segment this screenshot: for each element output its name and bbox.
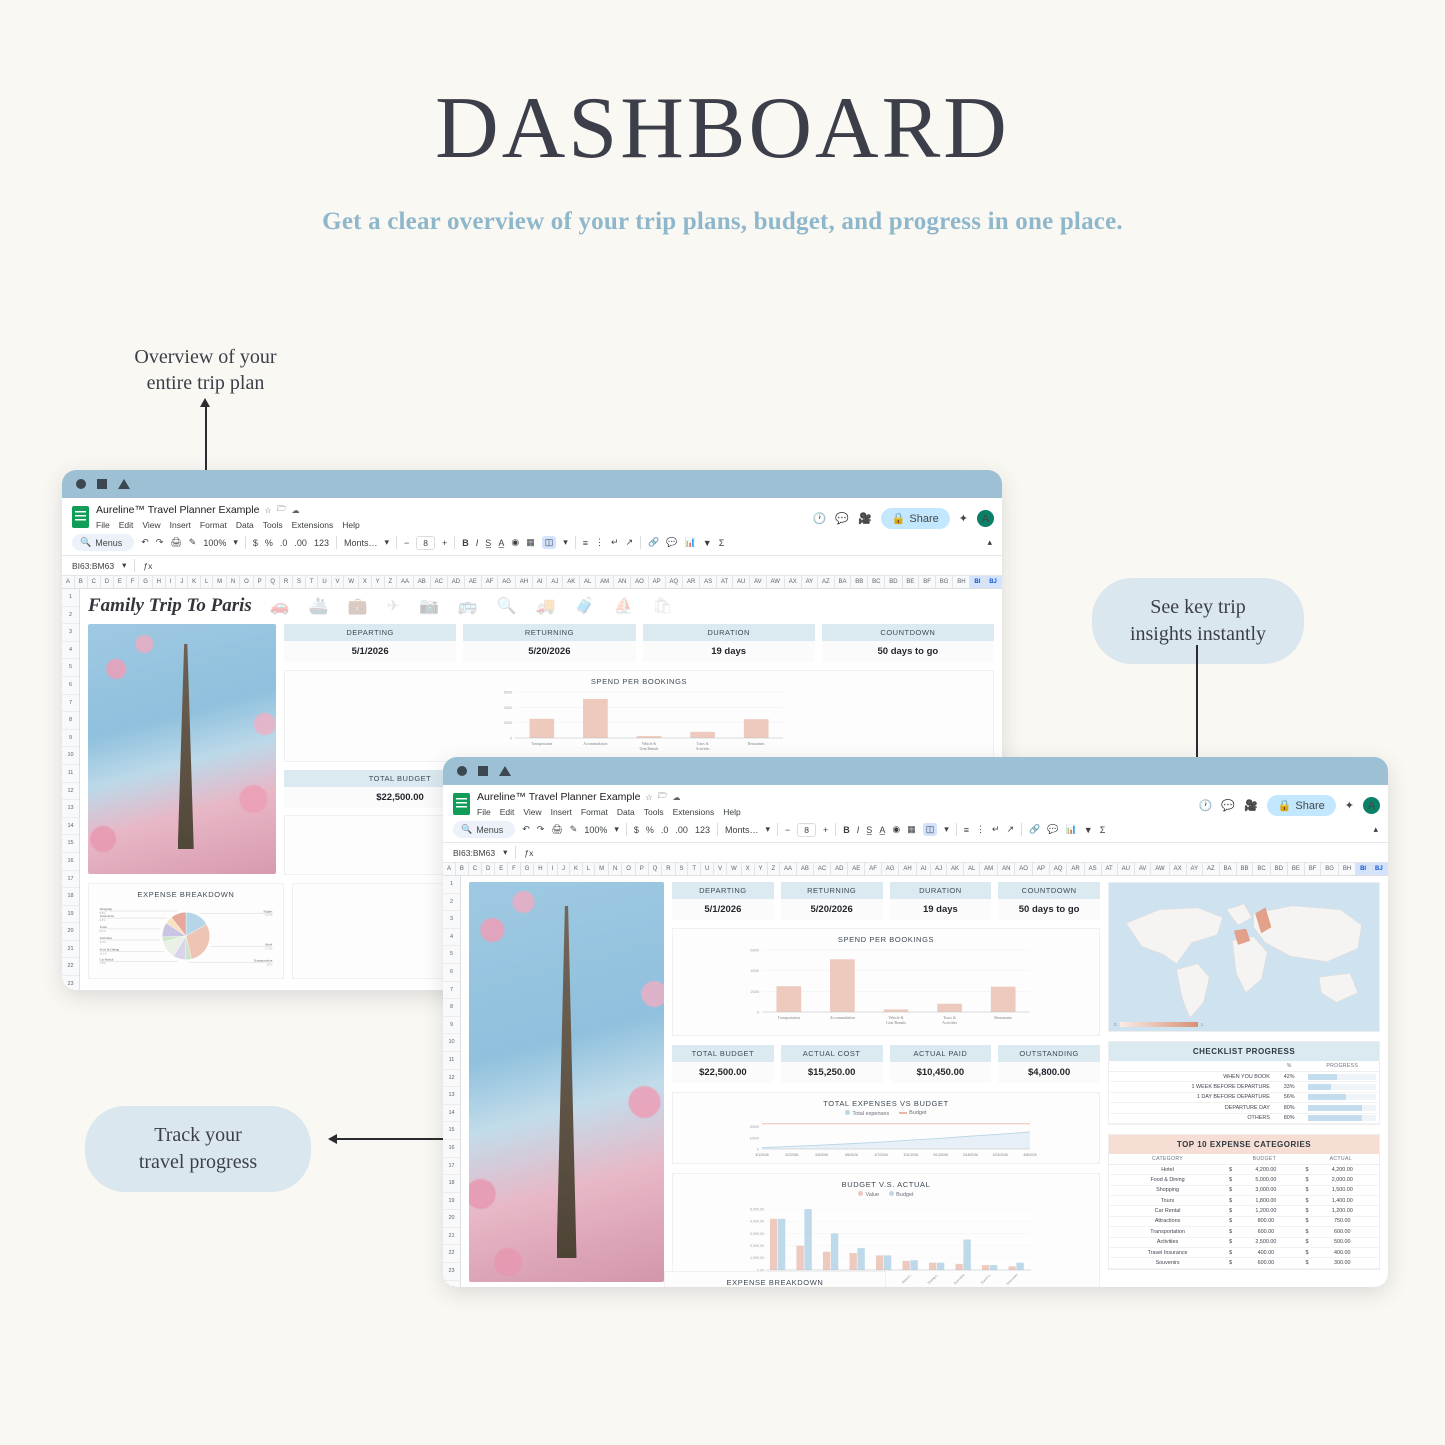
text-rotation-icon[interactable]: ↗ xyxy=(626,537,634,548)
move-folder-icon[interactable]: 🗁 xyxy=(658,790,668,804)
column-header-G[interactable]: G xyxy=(521,863,535,875)
row-header[interactable]: 16 xyxy=(443,1140,460,1158)
column-header-AR[interactable]: AR xyxy=(1067,863,1084,875)
row-header[interactable]: 11 xyxy=(62,765,79,783)
row-header[interactable]: 21 xyxy=(443,1228,460,1246)
column-header-X[interactable]: X xyxy=(359,576,372,588)
formula-bar-front[interactable]: BI63:BM63 ▾ ƒx xyxy=(443,843,1388,863)
window-minimize-icon[interactable] xyxy=(97,479,107,489)
cloud-saved-icon[interactable]: ☁ xyxy=(673,793,681,802)
insert-chart-icon[interactable]: 📊 xyxy=(1066,824,1077,835)
currency-format-button[interactable]: $ xyxy=(253,538,258,548)
column-headers-front[interactable]: ABCDEFGHIJKLMNOPQRSTUVWXYZAAABACADAEAFAG… xyxy=(443,863,1388,876)
column-header-AO[interactable]: AO xyxy=(1015,863,1033,875)
menus-search-button[interactable]: 🔍 Menus xyxy=(453,821,515,838)
vertical-align-icon[interactable]: ⋮ xyxy=(595,537,604,548)
column-header-BI[interactable]: BI xyxy=(970,576,985,588)
row-header[interactable]: 13 xyxy=(443,1087,460,1105)
menu-tools[interactable]: Tools xyxy=(263,520,283,530)
row-header[interactable]: 18 xyxy=(443,1175,460,1193)
text-color-button[interactable]: A̲ xyxy=(879,825,885,835)
column-header-AM[interactable]: AM xyxy=(596,576,614,588)
column-header-I[interactable]: I xyxy=(166,576,176,588)
menu-tools[interactable]: Tools xyxy=(644,807,664,817)
bold-button[interactable]: B xyxy=(462,538,469,548)
column-header-T[interactable]: T xyxy=(306,576,318,588)
column-header-AL[interactable]: AL xyxy=(580,576,596,588)
increase-font-size-button[interactable]: + xyxy=(442,538,447,548)
paint-format-icon[interactable]: ✎ xyxy=(189,537,197,548)
text-wrap-icon[interactable]: ↵ xyxy=(992,824,1000,835)
document-title[interactable]: Aureline™ Travel Planner Example xyxy=(96,504,259,516)
menu-file[interactable]: File xyxy=(477,807,491,817)
zoom-chevron-down-icon[interactable]: ▾ xyxy=(614,824,619,835)
header-actions-front[interactable]: 🕐 💬 🎥 🔒 Share ✦ A xyxy=(1199,790,1380,816)
name-box-chevron-down-icon[interactable]: ▾ xyxy=(122,560,126,571)
fill-color-icon[interactable]: ◉ xyxy=(892,824,900,835)
column-header-J[interactable]: J xyxy=(558,863,570,875)
window-titlebar-front[interactable] xyxy=(443,757,1388,785)
collapse-toolbar-chevron-up-icon[interactable]: ▴ xyxy=(1373,824,1378,835)
row-header[interactable]: 8 xyxy=(62,712,79,730)
column-header-C[interactable]: C xyxy=(88,576,101,588)
increase-decimal-button[interactable]: .00 xyxy=(294,538,307,548)
column-header-BB[interactable]: BB xyxy=(851,576,868,588)
window-close-icon[interactable] xyxy=(76,479,86,489)
percent-format-button[interactable]: % xyxy=(265,538,273,548)
comment-icon[interactable]: 💬 xyxy=(1221,799,1235,812)
row-header[interactable]: 4 xyxy=(443,929,460,947)
row-header[interactable]: 21 xyxy=(62,941,79,959)
row-header[interactable]: 23 xyxy=(62,976,79,990)
column-header-BE[interactable]: BE xyxy=(903,576,920,588)
row-header[interactable]: 19 xyxy=(62,906,79,924)
column-header-AE[interactable]: AE xyxy=(465,576,482,588)
menu-view[interactable]: View xyxy=(142,520,160,530)
window-titlebar[interactable] xyxy=(62,470,1002,498)
column-header-AJ[interactable]: AJ xyxy=(547,576,563,588)
text-wrap-icon[interactable]: ↵ xyxy=(611,537,619,548)
column-header-AH[interactable]: AH xyxy=(899,863,916,875)
column-header-AF[interactable]: AF xyxy=(865,863,882,875)
column-header-BI[interactable]: BI xyxy=(1356,863,1371,875)
column-header-AS[interactable]: AS xyxy=(1085,863,1102,875)
row-header[interactable]: 9 xyxy=(62,730,79,748)
window-close-icon[interactable] xyxy=(457,766,467,776)
text-rotation-icon[interactable]: ↗ xyxy=(1007,824,1015,835)
bold-button[interactable]: B xyxy=(843,825,850,835)
column-header-H[interactable]: H xyxy=(153,576,166,588)
column-header-BF[interactable]: BF xyxy=(1305,863,1322,875)
insert-link-icon[interactable]: 🔗 xyxy=(1029,824,1040,835)
column-header-P[interactable]: P xyxy=(254,576,267,588)
menu-format[interactable]: Format xyxy=(581,807,608,817)
insert-link-icon[interactable]: 🔗 xyxy=(648,537,659,548)
column-header-AW[interactable]: AW xyxy=(767,576,785,588)
column-header-AU[interactable]: AU xyxy=(1118,863,1135,875)
name-box[interactable]: BI63:BM63 xyxy=(72,561,114,571)
version-history-icon[interactable]: 🕐 xyxy=(813,512,827,525)
column-header-AY[interactable]: AY xyxy=(1187,863,1203,875)
row-header[interactable]: 3 xyxy=(443,911,460,929)
row-header[interactable]: 19 xyxy=(443,1193,460,1211)
more-formats-button[interactable]: 123 xyxy=(695,825,710,835)
column-header-BH[interactable]: BH xyxy=(953,576,970,588)
column-header-BB[interactable]: BB xyxy=(1237,863,1254,875)
comment-icon[interactable]: 💬 xyxy=(835,512,849,525)
print-icon[interactable]: 🖨 xyxy=(551,824,562,835)
row-header[interactable]: 9 xyxy=(443,1017,460,1035)
name-box[interactable]: BI63:BM63 xyxy=(453,848,495,858)
menu-extensions[interactable]: Extensions xyxy=(673,807,715,817)
row-header[interactable]: 20 xyxy=(62,923,79,941)
column-header-AV[interactable]: AV xyxy=(1135,863,1151,875)
row-header[interactable]: 16 xyxy=(62,853,79,871)
star-icon[interactable]: ☆ xyxy=(645,793,652,802)
column-header-Z[interactable]: Z xyxy=(385,576,397,588)
meet-icon[interactable]: 🎥 xyxy=(1244,799,1258,812)
print-icon[interactable]: 🖨 xyxy=(170,537,181,548)
column-header-AH[interactable]: AH xyxy=(516,576,533,588)
row-header[interactable]: 13 xyxy=(62,800,79,818)
horizontal-align-icon[interactable]: ≡ xyxy=(964,825,969,835)
column-header-AJ[interactable]: AJ xyxy=(931,863,947,875)
column-header-S[interactable]: S xyxy=(676,863,689,875)
font-family-select[interactable]: Monts… xyxy=(344,538,378,548)
decrease-decimal-button[interactable]: .0 xyxy=(280,538,288,548)
column-header-AN[interactable]: AN xyxy=(614,576,631,588)
menubar[interactable]: File Edit View Insert Format Data Tools … xyxy=(96,520,360,530)
column-header-AQ[interactable]: AQ xyxy=(666,576,683,588)
column-header-R[interactable]: R xyxy=(280,576,293,588)
column-header-BE[interactable]: BE xyxy=(1288,863,1305,875)
column-header-AE[interactable]: AE xyxy=(848,863,865,875)
column-header-B[interactable]: B xyxy=(75,576,88,588)
column-header-AS[interactable]: AS xyxy=(700,576,717,588)
window-minimize-icon[interactable] xyxy=(478,766,488,776)
row-header[interactable]: 10 xyxy=(62,747,79,765)
column-header-W[interactable]: W xyxy=(727,863,742,875)
column-header-BD[interactable]: BD xyxy=(1271,863,1288,875)
row-headers-front[interactable]: 1234567891011121314151617181920212223242… xyxy=(443,876,461,1287)
column-header-AQ[interactable]: AQ xyxy=(1050,863,1068,875)
redo-icon[interactable]: ↷ xyxy=(537,824,545,835)
column-header-BA[interactable]: BA xyxy=(1220,863,1237,875)
column-header-AX[interactable]: AX xyxy=(785,576,802,588)
column-header-O[interactable]: O xyxy=(622,863,636,875)
row-header[interactable]: 12 xyxy=(443,1070,460,1088)
window-maximize-icon[interactable] xyxy=(118,479,130,489)
row-header[interactable]: 17 xyxy=(443,1158,460,1176)
row-header[interactable]: 3 xyxy=(62,624,79,642)
insert-comment-icon[interactable]: 💬 xyxy=(666,537,677,548)
column-header-AY[interactable]: AY xyxy=(802,576,818,588)
column-header-AT[interactable]: AT xyxy=(1102,863,1118,875)
column-header-AU[interactable]: AU xyxy=(733,576,750,588)
merge-cells-icon[interactable]: ◫ xyxy=(542,536,557,549)
percent-format-button[interactable]: % xyxy=(646,825,654,835)
row-header[interactable]: 6 xyxy=(443,964,460,982)
header-actions[interactable]: 🕐 💬 🎥 🔒 Share ✦ A xyxy=(813,503,994,529)
column-header-AR[interactable]: AR xyxy=(683,576,700,588)
decrease-font-size-button[interactable]: − xyxy=(404,538,409,548)
font-size-input[interactable]: 8 xyxy=(416,536,435,550)
column-header-AG[interactable]: AG xyxy=(882,863,900,875)
column-header-K[interactable]: K xyxy=(570,863,583,875)
column-header-AC[interactable]: AC xyxy=(431,576,448,588)
column-header-N[interactable]: N xyxy=(609,863,622,875)
column-header-AI[interactable]: AI xyxy=(917,863,932,875)
column-header-R[interactable]: R xyxy=(662,863,675,875)
document-title[interactable]: Aureline™ Travel Planner Example xyxy=(477,791,640,803)
font-family-select[interactable]: Monts… xyxy=(725,825,759,835)
column-header-W[interactable]: W xyxy=(344,576,358,588)
column-header-AN[interactable]: AN xyxy=(998,863,1015,875)
row-header[interactable]: 7 xyxy=(62,695,79,713)
row-headers-back[interactable]: 123456789101112131415161718192021222324 xyxy=(62,589,80,990)
undo-icon[interactable]: ↶ xyxy=(522,824,530,835)
column-header-Q[interactable]: Q xyxy=(649,863,663,875)
share-button[interactable]: 🔒 Share xyxy=(1267,795,1336,816)
increase-decimal-button[interactable]: .00 xyxy=(675,825,688,835)
column-header-AP[interactable]: AP xyxy=(1033,863,1050,875)
column-header-AD[interactable]: AD xyxy=(448,576,465,588)
column-header-AA[interactable]: AA xyxy=(397,576,414,588)
row-header[interactable]: 1 xyxy=(62,589,79,607)
row-header[interactable]: 8 xyxy=(443,999,460,1017)
merge-cells-icon[interactable]: ◫ xyxy=(923,823,938,836)
column-header-O[interactable]: O xyxy=(240,576,253,588)
menu-help[interactable]: Help xyxy=(342,520,359,530)
share-button[interactable]: 🔒 Share xyxy=(881,508,950,529)
row-header[interactable]: 22 xyxy=(62,958,79,976)
row-header[interactable]: 7 xyxy=(443,982,460,1000)
name-box-chevron-down-icon[interactable]: ▾ xyxy=(503,847,507,858)
font-chevron-down-icon[interactable]: ▾ xyxy=(384,537,389,548)
column-header-BG[interactable]: BG xyxy=(936,576,953,588)
column-header-G[interactable]: G xyxy=(139,576,152,588)
column-header-J[interactable]: J xyxy=(176,576,188,588)
menu-data[interactable]: Data xyxy=(236,520,254,530)
column-header-T[interactable]: T xyxy=(688,863,701,875)
italic-button[interactable]: I xyxy=(857,825,860,835)
column-header-AW[interactable]: AW xyxy=(1151,863,1169,875)
fill-color-icon[interactable]: ◉ xyxy=(511,537,519,548)
menu-insert[interactable]: Insert xyxy=(551,807,572,817)
borders-icon[interactable]: ▦ xyxy=(526,537,535,548)
row-header[interactable]: 11 xyxy=(443,1052,460,1070)
merge-chevron-down-icon[interactable]: ▾ xyxy=(563,537,568,548)
menu-edit[interactable]: Edit xyxy=(500,807,515,817)
row-header[interactable]: 5 xyxy=(62,659,79,677)
column-header-AF[interactable]: AF xyxy=(482,576,498,588)
menus-search-button[interactable]: 🔍 Menus xyxy=(72,534,134,551)
column-header-AA[interactable]: AA xyxy=(780,863,797,875)
row-header[interactable]: 2 xyxy=(443,894,460,912)
window-maximize-icon[interactable] xyxy=(499,766,511,776)
column-header-AZ[interactable]: AZ xyxy=(818,576,834,588)
column-header-AP[interactable]: AP xyxy=(649,576,666,588)
row-header[interactable]: 18 xyxy=(62,888,79,906)
strikethrough-button[interactable]: S̲ xyxy=(485,538,491,548)
column-header-AK[interactable]: AK xyxy=(947,863,964,875)
column-header-AD[interactable]: AD xyxy=(831,863,848,875)
row-header[interactable]: 2 xyxy=(62,607,79,625)
toolbar[interactable]: 🔍 Menus ↶ ↷ 🖨 ✎ 100% ▾ $ % .0 .00 123 Mo… xyxy=(62,530,1002,556)
row-header[interactable]: 6 xyxy=(62,677,79,695)
zoom-level[interactable]: 100% xyxy=(584,825,607,835)
functions-icon[interactable]: Σ xyxy=(719,538,725,548)
menu-view[interactable]: View xyxy=(523,807,541,817)
menu-data[interactable]: Data xyxy=(617,807,635,817)
spreadsheet-window-front[interactable]: Aureline™ Travel Planner Example ☆ 🗁 ☁ F… xyxy=(443,757,1388,1287)
column-header-BJ[interactable]: BJ xyxy=(1371,863,1388,875)
row-header[interactable]: 15 xyxy=(62,835,79,853)
filter-icon[interactable]: ▼ xyxy=(703,538,712,548)
column-header-D[interactable]: D xyxy=(482,863,495,875)
menu-help[interactable]: Help xyxy=(723,807,740,817)
column-header-AM[interactable]: AM xyxy=(980,863,998,875)
column-header-M[interactable]: M xyxy=(213,576,227,588)
row-header[interactable]: 15 xyxy=(443,1122,460,1140)
column-header-BF[interactable]: BF xyxy=(919,576,935,588)
functions-icon[interactable]: Σ xyxy=(1100,825,1106,835)
menu-extensions[interactable]: Extensions xyxy=(292,520,334,530)
row-header[interactable]: 12 xyxy=(62,783,79,801)
row-header[interactable]: 5 xyxy=(443,946,460,964)
horizontal-align-icon[interactable]: ≡ xyxy=(583,538,588,548)
menu-edit[interactable]: Edit xyxy=(119,520,134,530)
column-header-BG[interactable]: BG xyxy=(1321,863,1339,875)
column-header-AV[interactable]: AV xyxy=(750,576,766,588)
formula-bar[interactable]: BI63:BM63 ▾ ƒx xyxy=(62,556,1002,576)
row-header[interactable]: 23 xyxy=(443,1263,460,1281)
filter-icon[interactable]: ▼ xyxy=(1084,825,1093,835)
column-header-AC[interactable]: AC xyxy=(814,863,831,875)
decrease-decimal-button[interactable]: .0 xyxy=(661,825,669,835)
row-header[interactable]: 1 xyxy=(443,876,460,894)
column-header-F[interactable]: F xyxy=(127,576,139,588)
menu-insert[interactable]: Insert xyxy=(170,520,191,530)
gemini-icon[interactable]: ✦ xyxy=(1345,799,1354,812)
row-header[interactable]: 14 xyxy=(62,818,79,836)
column-header-D[interactable]: D xyxy=(101,576,114,588)
column-header-M[interactable]: M xyxy=(595,863,609,875)
column-header-AO[interactable]: AO xyxy=(631,576,648,588)
column-header-AB[interactable]: AB xyxy=(797,863,814,875)
undo-icon[interactable]: ↶ xyxy=(141,537,149,548)
column-header-BC[interactable]: BC xyxy=(868,576,885,588)
column-header-Q[interactable]: Q xyxy=(266,576,279,588)
column-header-BJ[interactable]: BJ xyxy=(985,576,1001,588)
vertical-align-icon[interactable]: ⋮ xyxy=(976,824,985,835)
row-header[interactable]: 20 xyxy=(443,1210,460,1228)
cloud-saved-icon[interactable]: ☁ xyxy=(292,506,300,515)
collapse-toolbar-chevron-up-icon[interactable]: ▴ xyxy=(987,537,992,548)
insert-comment-icon[interactable]: 💬 xyxy=(1047,824,1058,835)
sheet-area-front[interactable]: 1234567891011121314151617181920212223242… xyxy=(443,876,1388,1287)
paint-format-icon[interactable]: ✎ xyxy=(570,824,578,835)
column-header-A[interactable]: A xyxy=(62,576,75,588)
column-header-BC[interactable]: BC xyxy=(1253,863,1270,875)
font-size-input[interactable]: 8 xyxy=(797,823,816,837)
text-color-button[interactable]: A̲ xyxy=(498,538,504,548)
italic-button[interactable]: I xyxy=(476,538,479,548)
column-header-V[interactable]: V xyxy=(332,576,345,588)
meet-icon[interactable]: 🎥 xyxy=(858,512,872,525)
column-header-BA[interactable]: BA xyxy=(835,576,852,588)
column-header-X[interactable]: X xyxy=(742,863,755,875)
column-header-U[interactable]: U xyxy=(318,576,331,588)
column-header-AZ[interactable]: AZ xyxy=(1203,863,1220,875)
row-header[interactable]: 22 xyxy=(443,1245,460,1263)
column-header-BD[interactable]: BD xyxy=(885,576,902,588)
column-header-B[interactable]: B xyxy=(456,863,469,875)
row-header[interactable]: 10 xyxy=(443,1034,460,1052)
zoom-chevron-down-icon[interactable]: ▾ xyxy=(233,537,238,548)
column-header-AX[interactable]: AX xyxy=(1170,863,1187,875)
column-header-E[interactable]: E xyxy=(114,576,127,588)
column-header-AB[interactable]: AB xyxy=(414,576,431,588)
column-header-I[interactable]: I xyxy=(548,863,559,875)
currency-format-button[interactable]: $ xyxy=(634,825,639,835)
increase-font-size-button[interactable]: + xyxy=(823,825,828,835)
row-header[interactable]: 17 xyxy=(62,871,79,889)
column-header-Z[interactable]: Z xyxy=(768,863,781,875)
column-header-Y[interactable]: Y xyxy=(755,863,768,875)
row-header[interactable]: 14 xyxy=(443,1105,460,1123)
version-history-icon[interactable]: 🕐 xyxy=(1199,799,1213,812)
column-header-AI[interactable]: AI xyxy=(533,576,547,588)
decrease-font-size-button[interactable]: − xyxy=(785,825,790,835)
row-header[interactable]: 24 xyxy=(443,1281,460,1287)
menu-file[interactable]: File xyxy=(96,520,110,530)
column-header-S[interactable]: S xyxy=(293,576,306,588)
toolbar-front[interactable]: 🔍 Menus ↶ ↷ 🖨 ✎ 100% ▾ $ % .0 .00 123 Mo… xyxy=(443,817,1388,843)
strikethrough-button[interactable]: S̲ xyxy=(866,825,872,835)
column-header-AL[interactable]: AL xyxy=(964,863,980,875)
move-folder-icon[interactable]: 🗁 xyxy=(277,503,287,517)
zoom-level[interactable]: 100% xyxy=(203,538,226,548)
star-icon[interactable]: ☆ xyxy=(264,506,271,515)
column-header-AG[interactable]: AG xyxy=(498,576,515,588)
insert-chart-icon[interactable]: 📊 xyxy=(685,537,696,548)
column-header-E[interactable]: E xyxy=(495,863,508,875)
column-header-L[interactable]: L xyxy=(583,863,595,875)
font-chevron-down-icon[interactable]: ▾ xyxy=(765,824,770,835)
column-header-P[interactable]: P xyxy=(636,863,649,875)
avatar[interactable]: A xyxy=(977,510,994,527)
column-header-Y[interactable]: Y xyxy=(372,576,385,588)
merge-chevron-down-icon[interactable]: ▾ xyxy=(944,824,949,835)
column-header-A[interactable]: A xyxy=(443,863,456,875)
gemini-icon[interactable]: ✦ xyxy=(959,512,968,525)
column-header-C[interactable]: C xyxy=(469,863,482,875)
column-header-F[interactable]: F xyxy=(508,863,521,875)
menu-format[interactable]: Format xyxy=(200,520,227,530)
column-header-AT[interactable]: AT xyxy=(717,576,733,588)
more-formats-button[interactable]: 123 xyxy=(314,538,329,548)
column-header-U[interactable]: U xyxy=(701,863,714,875)
avatar[interactable]: A xyxy=(1363,797,1380,814)
row-header[interactable]: 4 xyxy=(62,642,79,660)
column-header-AK[interactable]: AK xyxy=(563,576,580,588)
column-header-N[interactable]: N xyxy=(227,576,240,588)
column-header-L[interactable]: L xyxy=(201,576,213,588)
column-header-H[interactable]: H xyxy=(534,863,547,875)
borders-icon[interactable]: ▦ xyxy=(907,824,916,835)
column-header-V[interactable]: V xyxy=(714,863,727,875)
